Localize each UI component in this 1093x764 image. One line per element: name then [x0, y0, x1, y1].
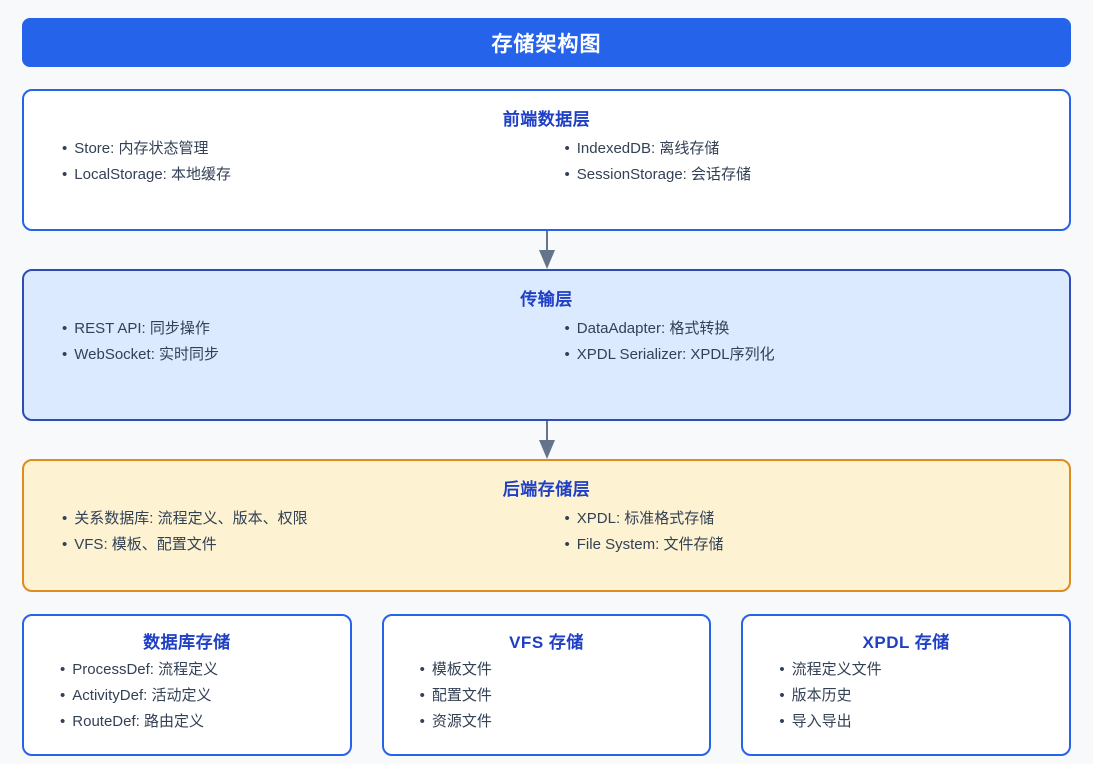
card-database-storage: 数据库存储 ProcessDef: 流程定义 ActivityDef: 活动定义…	[22, 614, 352, 756]
arrow-shaft	[546, 231, 548, 251]
list-item: SessionStorage: 会话存储	[565, 166, 1050, 185]
layer-frontend-bullets: Store: 内存状态管理 LocalStorage: 本地缓存 Indexed…	[44, 140, 1049, 185]
connector-frontend-to-transport	[22, 231, 1071, 269]
connector-transport-to-backend	[22, 421, 1071, 459]
arrow-shaft	[546, 421, 548, 441]
arrow-head	[539, 250, 555, 269]
diagram-header-banner: 存储架构图	[22, 18, 1071, 67]
list-item: RouteDef: 路由定义	[60, 713, 336, 732]
layer-transport: 传输层 REST API: 同步操作 WebSocket: 实时同步 DataA…	[22, 269, 1071, 421]
layer-transport-bullets: REST API: 同步操作 WebSocket: 实时同步 DataAdapt…	[44, 320, 1049, 365]
list-item: File System: 文件存储	[565, 536, 1050, 555]
list-item: 关系数据库: 流程定义、版本、权限	[62, 510, 541, 529]
down-arrow-icon	[539, 231, 555, 269]
list-item: ActivityDef: 活动定义	[60, 687, 336, 706]
list-item: LocalStorage: 本地缓存	[62, 166, 541, 185]
card-title-xpdl-storage: XPDL 存储	[757, 628, 1055, 653]
layer-backend-right-column: XPDL: 标准格式存储 File System: 文件存储	[553, 510, 1050, 555]
list-item: 配置文件	[420, 687, 696, 706]
layer-transport-left-column: REST API: 同步操作 WebSocket: 实时同步	[44, 320, 541, 365]
card-list-database-storage: ProcessDef: 流程定义 ActivityDef: 活动定义 Route…	[38, 661, 336, 731]
header-spacer	[22, 67, 1071, 89]
layer-backend-left-column: 关系数据库: 流程定义、版本、权限 VFS: 模板、配置文件	[44, 510, 541, 555]
list-item: 导入导出	[779, 713, 1055, 732]
card-title-database-storage: 数据库存储	[38, 628, 336, 653]
card-xpdl-storage: XPDL 存储 流程定义文件 版本历史 导入导出	[741, 614, 1071, 756]
list-item: 资源文件	[420, 713, 696, 732]
list-item: XPDL: 标准格式存储	[565, 510, 1050, 529]
layer-backend-storage: 后端存储层 关系数据库: 流程定义、版本、权限 VFS: 模板、配置文件 XPD…	[22, 459, 1071, 592]
list-item: Store: 内存状态管理	[62, 140, 541, 159]
layer-title-transport: 传输层	[44, 285, 1049, 310]
list-item: IndexedDB: 离线存储	[565, 140, 1050, 159]
list-item: VFS: 模板、配置文件	[62, 536, 541, 555]
card-list-vfs-storage: 模板文件 配置文件 资源文件	[398, 661, 696, 731]
card-vfs-storage: VFS 存储 模板文件 配置文件 资源文件	[382, 614, 712, 756]
page-title: 存储架构图	[492, 28, 602, 58]
card-title-vfs-storage: VFS 存储	[398, 628, 696, 653]
layer-frontend-right-column: IndexedDB: 离线存储 SessionStorage: 会话存储	[553, 140, 1050, 185]
layer-title-frontend: 前端数据层	[44, 105, 1049, 130]
down-arrow-icon	[539, 421, 555, 459]
card-list-xpdl-storage: 流程定义文件 版本历史 导入导出	[757, 661, 1055, 731]
storage-architecture-diagram: 存储架构图 前端数据层 Store: 内存状态管理 LocalStorage: …	[0, 0, 1093, 764]
list-item: WebSocket: 实时同步	[62, 346, 541, 365]
list-item: 模板文件	[420, 661, 696, 680]
list-item: XPDL Serializer: XPDL序列化	[565, 346, 1050, 365]
layer-frontend-data: 前端数据层 Store: 内存状态管理 LocalStorage: 本地缓存 I…	[22, 89, 1071, 231]
list-item: ProcessDef: 流程定义	[60, 661, 336, 680]
list-item: DataAdapter: 格式转换	[565, 320, 1050, 339]
layer-backend-bullets: 关系数据库: 流程定义、版本、权限 VFS: 模板、配置文件 XPDL: 标准格…	[44, 510, 1049, 555]
list-item: 版本历史	[779, 687, 1055, 706]
layer-title-backend: 后端存储层	[44, 475, 1049, 500]
storage-detail-cards: 数据库存储 ProcessDef: 流程定义 ActivityDef: 活动定义…	[22, 614, 1071, 756]
layer-frontend-left-column: Store: 内存状态管理 LocalStorage: 本地缓存	[44, 140, 541, 185]
layer-transport-right-column: DataAdapter: 格式转换 XPDL Serializer: XPDL序…	[553, 320, 1050, 365]
list-item: 流程定义文件	[779, 661, 1055, 680]
arrow-head	[539, 440, 555, 459]
list-item: REST API: 同步操作	[62, 320, 541, 339]
